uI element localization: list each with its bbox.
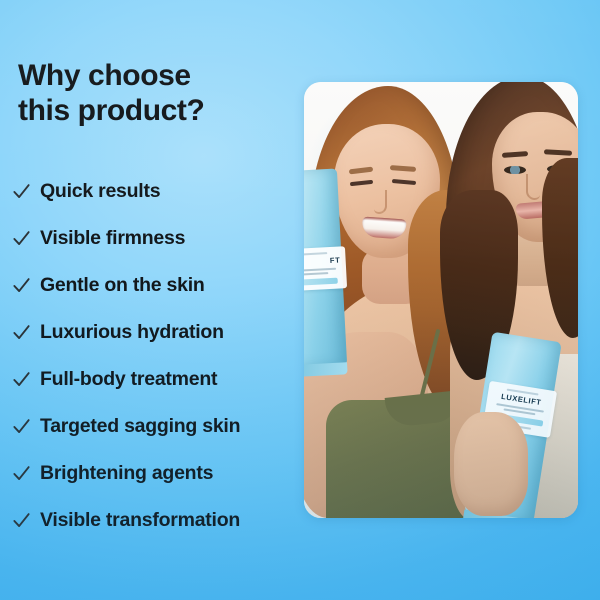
list-item: Targeted sagging skin [12,403,312,450]
model-left-nose [374,190,387,214]
benefit-label: Targeted sagging skin [40,417,240,437]
list-item: Quick results [12,168,312,215]
list-item: Brightening agents [12,450,312,497]
promo-poster: Why choose this product? Quick results V… [0,0,600,600]
check-icon [12,417,31,436]
list-item: Visible firmness [12,215,312,262]
product-photo: FT LUXELIFT [304,82,578,518]
benefit-label: Visible transformation [40,511,240,531]
list-item: Visible transformation [12,497,312,544]
check-icon [12,276,31,295]
label-tagline [304,267,342,276]
check-icon [12,370,31,389]
check-icon [12,229,31,248]
check-icon [12,464,31,483]
benefit-label: Gentle on the skin [40,276,205,296]
check-icon [12,511,31,530]
list-item: Full-body treatment [12,356,312,403]
label-rule [304,253,327,256]
model-right-hand [454,412,528,516]
list-item: Gentle on the skin [12,262,312,309]
check-icon [12,323,31,342]
benefit-label: Visible firmness [40,229,185,249]
product-brand-name: FT [304,257,341,267]
product-photo-card: FT LUXELIFT [304,82,578,518]
benefit-label: Brightening agents [40,464,213,484]
model-right-nose [526,174,540,200]
product-tube-left-label: FT [304,247,347,292]
label-swatch [304,278,338,286]
check-icon [12,182,31,201]
benefits-list: Quick results Visible firmness Gentle on… [12,168,312,544]
page-title: Why choose this product? [18,58,204,128]
model-right-eye [504,166,526,174]
list-item: Luxurious hydration [12,309,312,356]
benefit-label: Luxurious hydration [40,323,224,343]
benefit-label: Quick results [40,182,160,202]
benefit-label: Full-body treatment [40,370,217,390]
